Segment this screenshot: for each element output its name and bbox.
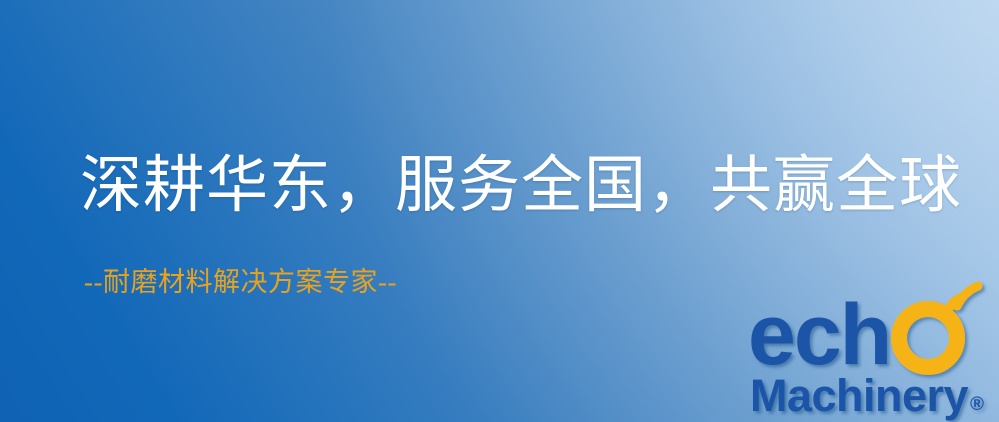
logo-signal-arc-outer-icon — [957, 286, 978, 306]
hero-banner: 深耕华东，服务全国，共赢全球 --耐磨材料解决方案专家-- ech Machin… — [0, 0, 999, 422]
logo-registered-mark: ® — [970, 394, 984, 415]
logo-o-ring-icon — [899, 309, 957, 367]
logo-echo-text: ech — [748, 287, 890, 383]
logo-machinery-text: Machinery — [750, 370, 969, 421]
echo-machinery-logo[interactable]: ech Machinery ® — [746, 292, 999, 422]
banner-subheadline: --耐磨材料解决方案专家-- — [84, 266, 397, 298]
banner-headline: 深耕华东，服务全国，共赢全球 — [80, 152, 962, 220]
